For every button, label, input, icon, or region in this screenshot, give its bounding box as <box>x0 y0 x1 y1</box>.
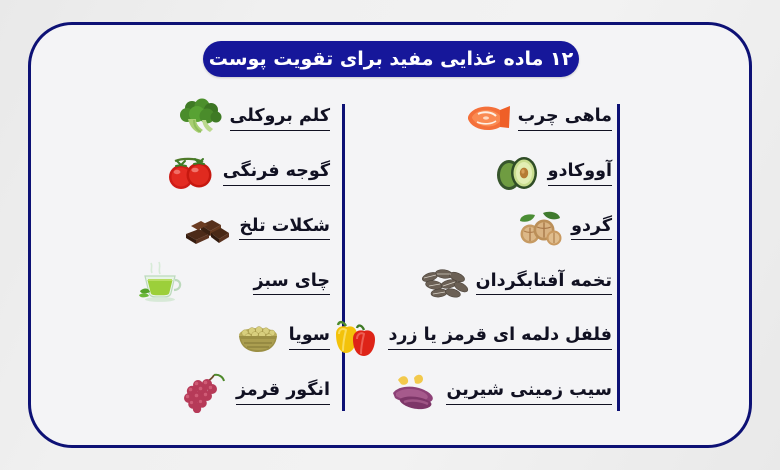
sunflower-seeds-icon <box>418 261 472 303</box>
list-item: سویا <box>144 315 330 359</box>
list-item: فلفل دلمه ای قرمز یا زرد <box>374 315 612 359</box>
list-item: کلم بروکلی <box>144 96 330 140</box>
food-label: گردو <box>571 215 612 241</box>
food-label: تخمه آفتابگردان <box>476 270 612 296</box>
food-label: انگور قرمز <box>236 379 330 405</box>
food-label: فلفل دلمه ای قرمز یا زرد <box>388 324 612 350</box>
green-tea-cup-icon <box>137 261 191 303</box>
food-label: شکلات تلخ <box>239 215 330 241</box>
list-item: ماهی چرب <box>374 96 612 140</box>
divider-right <box>617 104 620 411</box>
list-item: شکلات تلخ <box>144 206 330 250</box>
divider-center <box>342 104 345 411</box>
list-item: انگور قرمز <box>144 370 330 414</box>
red-grapes-icon <box>178 371 232 413</box>
food-column-left: کلم بروکلی گوجه فرنگی <box>144 96 330 414</box>
green-tea-icon <box>195 261 249 303</box>
salmon-icon <box>460 97 514 139</box>
dark-chocolate-icon <box>181 207 235 249</box>
list-item: چای سبز <box>144 260 330 304</box>
food-label: سویا <box>289 324 330 350</box>
tomato-icon <box>165 152 219 194</box>
food-label: آووکادو <box>548 160 612 186</box>
bell-pepper-icon <box>330 316 384 358</box>
list-item: آووکادو <box>374 151 612 195</box>
food-label: ماهی چرب <box>518 105 612 131</box>
food-label: گوجه فرنگی <box>223 160 330 186</box>
list-item: تخمه آفتابگردان <box>374 260 612 304</box>
title-banner: ۱۲ ماده غذایی مفید برای تقویت پوست <box>203 41 579 77</box>
infographic-root: ۱۲ ماده غذایی مفید برای تقویت پوست ماهی … <box>0 0 780 470</box>
list-item: گردو <box>374 206 612 250</box>
broccoli-icon <box>172 97 226 139</box>
food-label: سیب زمینی شیرین <box>446 379 612 405</box>
avocado-icon <box>490 152 544 194</box>
food-column-right: ماهی چرب آووکادو <box>374 96 612 414</box>
page-title: ۱۲ ماده غذایی مفید برای تقویت پوست <box>209 50 573 69</box>
list-item: گوجه فرنگی <box>144 151 330 195</box>
list-item: سیب زمینی شیرین <box>374 370 612 414</box>
food-label: کلم بروکلی <box>230 105 331 131</box>
soybean-icon <box>231 316 285 358</box>
sweet-potato-icon <box>388 371 442 413</box>
food-label: چای سبز <box>253 270 330 296</box>
walnut-icon <box>513 207 567 249</box>
